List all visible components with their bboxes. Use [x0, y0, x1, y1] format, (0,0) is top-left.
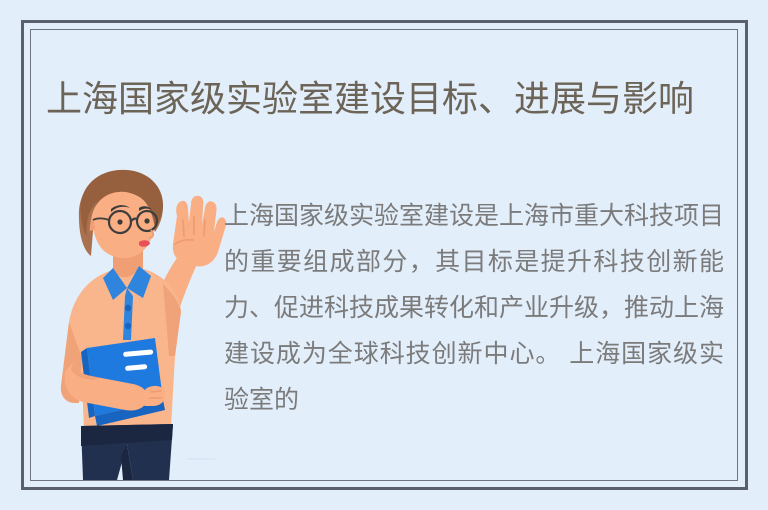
article-content: 上海国家级实验室建设目标、进展与影响 [31, 30, 737, 480]
page-title: 上海国家级实验室建设目标、进展与影响 [46, 76, 736, 122]
article-body: 上海国家级实验室建设是上海市重大科技项目的重要组成部分，其目标是提升科技创新能力… [31, 160, 737, 480]
page-root: 上海国家级实验室建设目标、进展与影响 [0, 0, 768, 510]
article-paragraph: 上海国家级实验室建设是上海市重大科技项目的重要组成部分，其目标是提升科技创新能力… [224, 193, 724, 423]
student-illustration-svg [51, 160, 226, 480]
student-waving-illustration [51, 160, 226, 480]
